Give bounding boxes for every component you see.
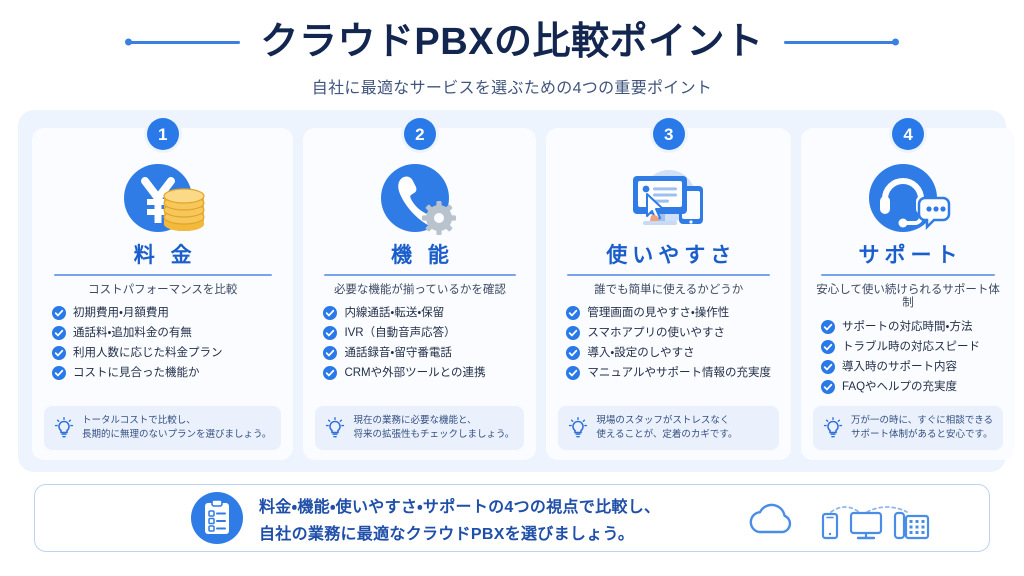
check-circle-icon <box>821 380 835 394</box>
check-list-1: 初期費用・月額費用 通話料・追加料金の有無 利用人数に応じた料金プラン コストに… <box>44 306 281 380</box>
check-label: 利用人数に応じた料金プラン <box>73 347 223 360</box>
rule-dot-right-icon <box>892 39 899 46</box>
card-usability[interactable]: 3 <box>546 128 791 460</box>
check-circle-icon <box>323 366 337 380</box>
list-item: トラブル時の対応スピード <box>821 340 995 354</box>
check-label: IVR（自動音声応答） <box>344 327 455 340</box>
check-label: FAQやヘルプの充実度 <box>842 381 957 394</box>
card-pricing[interactable]: 1 <box>32 128 293 460</box>
page-title: クラウドPBXの比較ポイント <box>260 23 763 61</box>
check-label: トラブル時の対応スピード <box>842 341 980 354</box>
tip-line: 現場のスタッフがストレスなく <box>596 415 737 427</box>
lightbulb-icon <box>823 417 843 439</box>
list-item: 管理画面の見やすさ・操作性 <box>566 306 771 320</box>
check-circle-icon <box>52 326 66 340</box>
tip-text-4: 万が一の時に、すぐに相談できる サポート体制があると安心です。 <box>851 415 993 441</box>
infographic-root: クラウドPBXの比較ポイント 自社に最適なサービスを選ぶための4つの重要ポイント… <box>0 0 1024 576</box>
phone-gear-icon <box>315 160 524 240</box>
card-features[interactable]: 2 <box>303 128 536 460</box>
yen-coins-icon <box>44 160 281 240</box>
card-badge-4: 4 <box>892 118 924 150</box>
check-label: サポートの対応時間・方法 <box>842 321 972 334</box>
title-rule-right <box>784 41 898 44</box>
check-circle-icon <box>323 326 337 340</box>
list-item: 初期費用・月額費用 <box>52 306 273 320</box>
tip-line: 長期的に無理のないプランを選びましょう。 <box>82 429 271 441</box>
check-circle-icon <box>821 360 835 374</box>
cards-container: 1 <box>18 110 1006 472</box>
check-label: マニュアルやサポート情報の充実度 <box>587 367 771 380</box>
list-item: 導入・設定のしやすさ <box>566 346 771 360</box>
card-title-3: 使いやすさ <box>601 244 736 267</box>
tip-line: 万が一の時に、すぐに相談できる <box>851 415 993 427</box>
card-divider-4 <box>821 274 996 276</box>
check-list-2: 内線通話・転送・保留 IVR（自動音声応答） 通話録音・留守番電話 CRMや外部… <box>315 306 524 380</box>
card-badge-1: 1 <box>147 118 179 150</box>
tip-text-2: 現在の業務に必要な機能と、 将来の拡張性もチェックしましょう。 <box>353 415 514 441</box>
check-label: 通話録音・留守番電話 <box>344 347 451 360</box>
header: クラウドPBXの比較ポイント 自社に最適なサービスを選ぶための4つの重要ポイント <box>0 0 1024 108</box>
check-circle-icon <box>323 346 337 360</box>
list-item: 利用人数に応じた料金プラン <box>52 346 273 360</box>
card-badge-2: 2 <box>404 118 436 150</box>
tip-box-1: トータルコストで比較し、 長期的に無理のないプランを選びましょう。 <box>44 406 281 450</box>
title-rule-left <box>126 41 240 44</box>
tip-line: トータルコストで比較し、 <box>82 415 271 427</box>
card-divider-1 <box>54 274 272 276</box>
page-subtitle: 自社に最適なサービスを選ぶための4つの重要ポイント <box>0 74 1024 98</box>
card-title-2: 機 能 <box>386 244 454 267</box>
check-circle-icon <box>566 346 580 360</box>
card-divider-2 <box>324 274 516 276</box>
check-circle-icon <box>821 340 835 354</box>
list-item: コストに見合った機能か <box>52 366 273 380</box>
lightbulb-icon <box>54 417 74 439</box>
list-item: IVR（自動音声応答） <box>323 326 516 340</box>
tip-text-1: トータルコストで比較し、 長期的に無理のないプランを選びましょう。 <box>82 415 271 441</box>
card-badge-3: 3 <box>653 118 685 150</box>
tip-line: 現在の業務に必要な機能と、 <box>353 415 514 427</box>
rule-dot-left-icon <box>125 39 132 46</box>
device-icons-group <box>745 494 945 542</box>
check-circle-icon <box>566 326 580 340</box>
check-label: 通話料・追加料金の有無 <box>73 327 192 340</box>
card-subtitle-2: 必要な機能が揃っているかを確認 <box>334 284 506 298</box>
desk-phone-icon <box>895 513 928 538</box>
check-circle-icon <box>52 346 66 360</box>
check-circle-icon <box>323 306 337 320</box>
summary-line: 自社の業務に最適なクラウドPBXを選びましょう。 <box>259 520 660 544</box>
title-row: クラウドPBXの比較ポイント <box>0 16 1024 68</box>
lightbulb-icon <box>568 417 588 439</box>
card-divider-3 <box>567 274 770 276</box>
tip-box-4: 万が一の時に、すぐに相談できる サポート体制があると安心です。 <box>813 406 1003 450</box>
tip-line: サポート体制があると安心です。 <box>851 429 993 441</box>
list-item: FAQやヘルプの充実度 <box>821 380 995 394</box>
list-item: 通話料・追加料金の有無 <box>52 326 273 340</box>
check-circle-icon <box>566 366 580 380</box>
cloud-icon <box>751 505 790 532</box>
card-title-1: 料 金 <box>129 244 197 267</box>
tip-box-3: 現場のスタッフがストレスなく 使えることが、定着のカギです。 <box>558 406 779 450</box>
check-label: 内線通話・転送・保留 <box>344 307 444 320</box>
clipboard-checklist-icon <box>191 492 243 544</box>
summary-banner: 料金・機能・使いやすさ・サポートの4つの視点で比較し、 自社の業務に最適なクラウ… <box>34 484 990 552</box>
check-label: 導入・設定のしやすさ <box>587 347 694 360</box>
tip-text-3: 現場のスタッフがストレスなく 使えることが、定着のカギです。 <box>596 415 737 441</box>
check-circle-icon <box>52 306 66 320</box>
tip-line: 使えることが、定着のカギです。 <box>596 429 737 441</box>
list-item: 通話録音・留守番電話 <box>323 346 516 360</box>
list-item: CRMや外部ツールとの連携 <box>323 366 516 380</box>
card-subtitle-1: コストパフォーマンスを比較 <box>88 284 237 298</box>
list-item: 導入時のサポート内容 <box>821 360 995 374</box>
card-subtitle-4: 安心して使い続けられるサポート体制 <box>813 284 1003 312</box>
list-item: スマホアプリの使いやすさ <box>566 326 771 340</box>
summary-text: 料金・機能・使いやすさ・サポートの4つの視点で比較し、 自社の業務に最適なクラウ… <box>259 493 660 544</box>
desktop-cursor-icon <box>558 160 779 240</box>
check-label: 管理画面の見やすさ・操作性 <box>587 307 729 320</box>
check-list-4: サポートの対応時間・方法 トラブル時の対応スピード 導入時のサポート内容 FAQ… <box>813 320 1003 394</box>
tip-box-2: 現在の業務に必要な機能と、 将来の拡張性もチェックしましょう。 <box>315 406 524 450</box>
summary-line: 料金・機能・使いやすさ・サポートの4つの視点で比較し、 <box>259 493 660 517</box>
card-title-4: サポート <box>854 244 963 267</box>
check-label: 導入時のサポート内容 <box>842 361 957 374</box>
check-label: コストに見合った機能か <box>73 367 200 380</box>
check-circle-icon <box>52 366 66 380</box>
lightbulb-icon <box>325 417 345 439</box>
check-circle-icon <box>821 320 835 334</box>
check-label: スマホアプリの使いやすさ <box>587 327 725 340</box>
check-circle-icon <box>566 306 580 320</box>
headset-chat-icon <box>813 160 1003 240</box>
card-subtitle-3: 誰でも簡単に使えるかどうか <box>594 284 743 298</box>
check-label: CRMや外部ツールとの連携 <box>344 367 485 380</box>
list-item: 内線通話・転送・保留 <box>323 306 516 320</box>
list-item: サポートの対応時間・方法 <box>821 320 995 334</box>
smartphone-icon <box>823 514 837 538</box>
check-label: 初期費用・月額費用 <box>73 307 169 320</box>
monitor-icon <box>851 513 881 538</box>
list-item: マニュアルやサポート情報の充実度 <box>566 366 771 380</box>
card-support[interactable]: 4 サポート 安心 <box>801 128 1015 460</box>
check-list-3: 管理画面の見やすさ・操作性 スマホアプリの使いやすさ 導入・設定のしやすさ マニ… <box>558 306 779 380</box>
tip-line: 将来の拡張性もチェックしましょう。 <box>353 429 514 441</box>
